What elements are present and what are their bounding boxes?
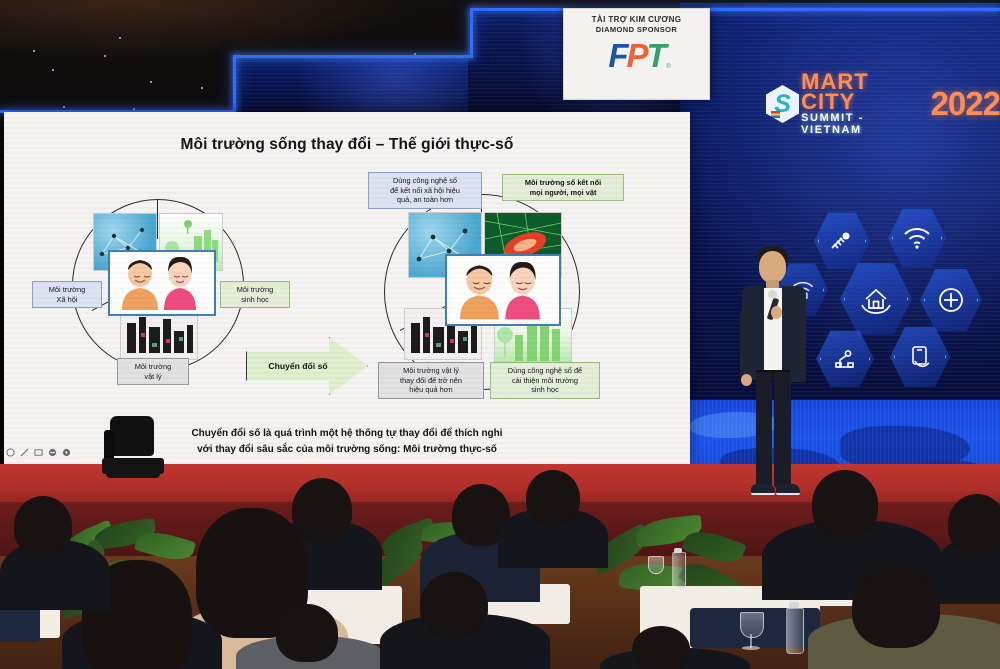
- led-strip-mid: [233, 55, 473, 58]
- label-line2: thay đổi để trở nên: [383, 376, 479, 386]
- slides-icon[interactable]: [34, 448, 43, 457]
- wine-glass-2: [648, 556, 664, 574]
- more-icon[interactable]: [62, 448, 71, 457]
- speaker-head: [759, 251, 786, 283]
- label-physical-environment: Môi trường vật lý: [117, 358, 189, 385]
- label-line2: Xã hội: [37, 295, 97, 305]
- label-line2: để kết nối xã hội hiệu: [373, 186, 477, 196]
- blank-icon[interactable]: [48, 448, 57, 457]
- sponsor-line-vi: TÀI TRỢ KIM CƯƠNG: [592, 15, 682, 24]
- backdrop-warm-glow: [0, 0, 420, 60]
- mobile-payment-icon: [890, 325, 950, 389]
- audience-head-6: [420, 572, 488, 638]
- audience-head-4: [276, 604, 338, 662]
- sponsor-line-en: DIAMOND SPONSOR: [596, 25, 677, 34]
- wifi-icon: [888, 207, 946, 269]
- audience-head-10: [852, 566, 940, 648]
- speaker-arm-left: [740, 308, 754, 382]
- led-wall-center: [232, 57, 468, 113]
- factory-robot-icon: [816, 329, 874, 389]
- label-line3: sinh học: [495, 385, 595, 395]
- speaker-pants-right: [774, 372, 791, 488]
- speaker-shoe-left: [751, 484, 775, 495]
- moving-head-light: [100, 416, 170, 480]
- label-social-environment: Môi trường Xã hội: [32, 281, 102, 308]
- label-line1: Môi trường vật lý: [383, 366, 479, 376]
- led-strip-vert-a: [233, 55, 236, 112]
- fpt-letter-p: P: [626, 40, 646, 72]
- medical-cross-icon: [920, 267, 982, 333]
- audience-head-8: [526, 470, 580, 526]
- label-line2: vật lý: [122, 372, 184, 382]
- hex-icon-cluster: [800, 205, 995, 390]
- digital-transformation-arrow: Chuyển đổi số: [246, 337, 368, 395]
- audience-head-7: [14, 496, 72, 556]
- sponsor-board: TÀI TRỢ KIM CƯƠNG DIAMOND SPONSOR F P T …: [563, 8, 710, 100]
- left-photo-people: [108, 250, 216, 316]
- label-line3: quả, an toàn hơn: [373, 195, 477, 205]
- right-photo-people: [445, 254, 561, 326]
- logo-year: 2022: [931, 89, 1000, 119]
- laser-icon[interactable]: [20, 448, 29, 457]
- label-line2: mọi người, mọi vật: [507, 188, 619, 198]
- projection-screen: Môi trường sống thay đổi – Thế giới thực…: [4, 112, 690, 464]
- audience-head-12: [632, 626, 690, 669]
- water-bottle-1: [672, 552, 686, 588]
- smart-home-icon: [840, 261, 912, 337]
- label-line2: sinh học: [225, 295, 285, 305]
- label-digital-environment-connects: Môi trường số kết nối mọi người, mọi vật: [502, 174, 624, 201]
- label-digital-improve-bio: Dùng công nghệ số để cải thiện môi trườn…: [490, 362, 600, 399]
- event-logo: S MART CITY SUMMIT - VIETNAM 2022: [766, 72, 1000, 136]
- microphone-head: [768, 290, 777, 299]
- label-line1: Dùng công nghệ số để: [495, 366, 595, 376]
- label-biological-environment: Môi trường sinh học: [220, 281, 290, 308]
- speaker-hand-left: [741, 374, 752, 386]
- speaker-shoe-right: [776, 484, 800, 495]
- speaker-pants: [756, 372, 772, 488]
- label-line3: hiệu quả hơn: [383, 385, 479, 395]
- logo-summit-vietnam: SUMMIT - VIETNAM: [801, 112, 926, 136]
- pen-icon[interactable]: [6, 448, 15, 457]
- label-line1: Môi trường: [122, 362, 184, 372]
- label-line1: Môi trường: [37, 285, 97, 295]
- bottle-cap-1: [674, 548, 682, 553]
- bottle-cap-2: [789, 602, 799, 608]
- fpt-letter-t: T: [647, 40, 665, 72]
- vietnam-flag-mark: [771, 111, 780, 118]
- presenter-toolbar[interactable]: [6, 448, 71, 457]
- fpt-logo: F P T ®: [608, 38, 664, 72]
- audience-head-11: [948, 494, 1000, 554]
- label-line1: Môi trường số kết nối: [507, 178, 619, 188]
- fpt-letter-f: F: [608, 40, 626, 72]
- audience-head-1: [292, 478, 352, 542]
- conference-photo: TÀI TRỢ KIM CƯƠNG DIAMOND SPONSOR F P T …: [0, 0, 1000, 669]
- light-feet: [106, 472, 160, 478]
- registered-mark: ®: [666, 64, 670, 70]
- wine-glass-1: [740, 612, 764, 638]
- event-logo-words: MART CITY SUMMIT - VIETNAM: [801, 72, 926, 136]
- water-bottle-2: [786, 608, 804, 654]
- slide-title: Môi trường sống thay đổi – Thế giới thực…: [4, 136, 690, 154]
- speaker-figure: [730, 246, 822, 516]
- label-line1: Dùng công nghệ số: [373, 176, 477, 186]
- antenna-signal-icon: [814, 211, 870, 271]
- label-physical-more-efficient: Môi trường vật lý thay đổi để trở nên hi…: [378, 362, 484, 399]
- arrow-label: Chuyển đổi số: [268, 361, 327, 371]
- logo-mart-city: MART CITY: [801, 72, 926, 112]
- smart-city-hex-icon: S: [766, 85, 799, 123]
- label-digital-social-connection: Dùng công nghệ số để kết nối xã hội hiệu…: [368, 172, 482, 209]
- label-line2: cải thiện môi trường: [495, 376, 595, 386]
- label-line1: Môi trường: [225, 285, 285, 295]
- speaker-hand-right: [771, 306, 782, 319]
- light-head: [110, 416, 154, 456]
- led-strip-top: [470, 8, 1000, 11]
- led-strip-vert-b: [470, 8, 473, 57]
- audience-head-9: [812, 470, 878, 538]
- wine-glass-foot-1: [742, 646, 760, 650]
